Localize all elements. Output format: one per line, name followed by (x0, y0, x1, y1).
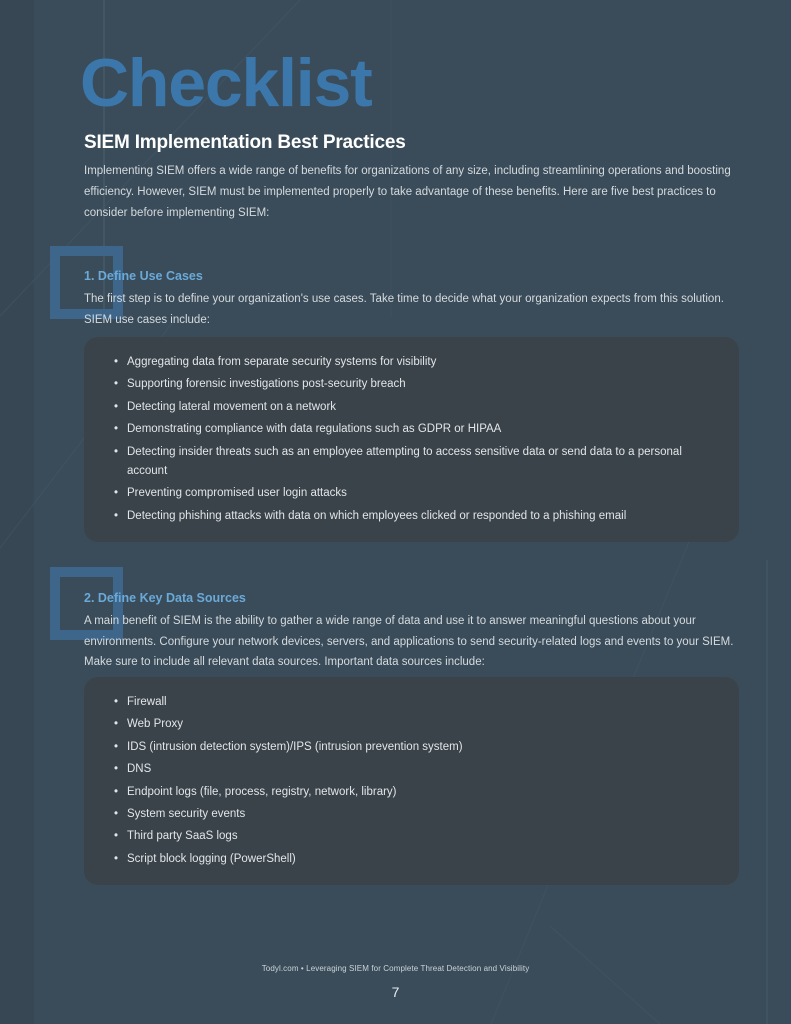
list-item: Supporting forensic investigations post-… (112, 375, 711, 394)
section-body: A main benefit of SIEM is the ability to… (84, 611, 739, 673)
list-item: Aggregating data from separate security … (112, 353, 711, 372)
list-item: System security events (112, 805, 711, 824)
list-item: Preventing compromised user login attack… (112, 484, 711, 503)
section-body: The first step is to define your organiz… (84, 289, 739, 330)
footer-text: Todyl.com • Leveraging SIEM for Complete… (0, 963, 791, 975)
bullet-card-use-cases: Aggregating data from separate security … (84, 337, 739, 542)
list-item: Detecting insider threats such as an emp… (112, 443, 711, 482)
bullet-card-data-sources: Firewall Web Proxy IDS (intrusion detect… (84, 677, 739, 885)
list-item: Script block logging (PowerShell) (112, 850, 711, 869)
page-content: Checklist SIEM Implementation Best Pract… (0, 0, 791, 1024)
list-item: Detecting lateral movement on a network (112, 398, 711, 417)
list-item: Third party SaaS logs (112, 827, 711, 846)
section-heading: 1. Define Use Cases (84, 268, 739, 285)
section-define-key-data-sources: 2. Define Key Data Sources A main benefi… (84, 590, 739, 673)
section-heading: 2. Define Key Data Sources (84, 590, 739, 607)
intro-heading: SIEM Implementation Best Practices (84, 131, 736, 155)
list-item: DNS (112, 760, 711, 779)
list-item: Demonstrating compliance with data regul… (112, 420, 711, 439)
bullet-list: Aggregating data from separate security … (84, 353, 739, 526)
checklist-page: Checklist SIEM Implementation Best Pract… (0, 0, 791, 1024)
section-define-use-cases: 1. Define Use Cases The first step is to… (84, 268, 739, 330)
page-footer: Todyl.com • Leveraging SIEM for Complete… (0, 963, 791, 1001)
list-item: Endpoint logs (file, process, registry, … (112, 783, 711, 802)
bullet-list: Firewall Web Proxy IDS (intrusion detect… (84, 693, 739, 869)
list-item: Web Proxy (112, 715, 711, 734)
page-title: Checklist (80, 46, 372, 120)
list-item: Firewall (112, 693, 711, 712)
list-item: Detecting phishing attacks with data on … (112, 507, 711, 526)
intro-block: SIEM Implementation Best Practices Imple… (84, 131, 736, 224)
list-item: IDS (intrusion detection system)/IPS (in… (112, 738, 711, 757)
intro-body: Implementing SIEM offers a wide range of… (84, 161, 736, 224)
page-number: 7 (0, 983, 791, 1001)
